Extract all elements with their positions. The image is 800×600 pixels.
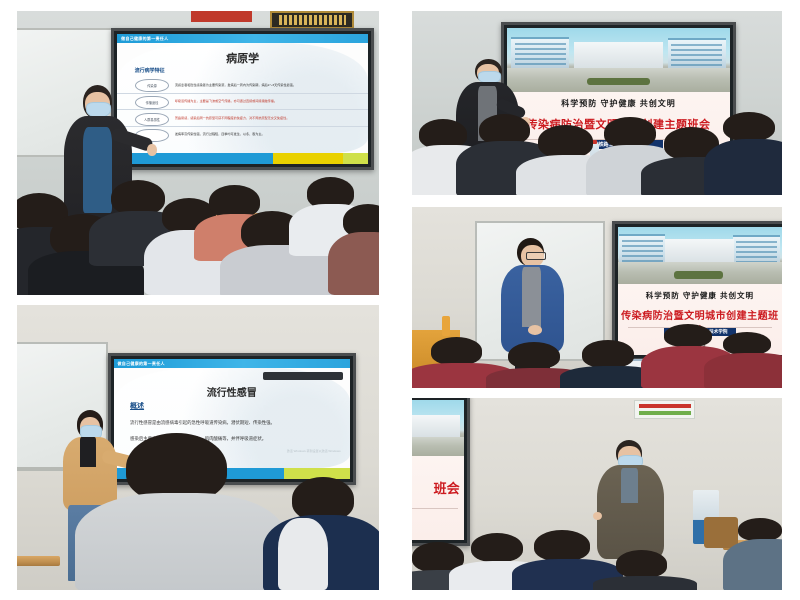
poster-stripe [639, 411, 691, 415]
photo-top-left[interactable]: 做自己健康的第一责任人 病原学 流行病学特征 传染源 流感患者和隐性感染者为主要… [17, 11, 379, 295]
photo-collage: 做自己健康的第一责任人 病原学 流行病学特征 传染源 流感患者和隐性感染者为主要… [0, 0, 800, 600]
audience-row [412, 316, 782, 388]
slide-title: 病原学 [117, 50, 368, 66]
eyeglasses [526, 252, 546, 260]
slide-header-text: 做自己健康的第一责任人 [117, 36, 168, 42]
row-text-2: 普遍易感，感染后同一抗原型可获不同程度的免疫力，对不同抗原型无交叉免疫性。 [175, 115, 361, 120]
slide-header-bar: 做自己健康的第一责任人 [114, 359, 351, 368]
wall-poster [634, 400, 695, 419]
slide-header-bar: 做自己健康的第一责任人 [117, 34, 368, 43]
slide-bullet: 流行病学特征 [135, 67, 165, 74]
campus-photo [412, 400, 464, 456]
campus-photo [507, 28, 730, 92]
photo-bottom-left[interactable]: 做自己健康的第一责任人 流行性感冒 概述 流行性感冒是由流感病毒引起的急性呼吸道… [17, 305, 379, 590]
slide-line1: 科学预防 守护健康 共创文明 [618, 290, 782, 301]
slide-body: 病原学 流行病学特征 传染源 流感患者和隐性感染者为主要传染源，发病后一周内为传… [117, 43, 368, 153]
row-text-3: 发病率高传染性强，流行过程短，四季均可发生，以冬、春为主。 [175, 131, 361, 136]
campus-gate [412, 415, 460, 440]
audience-row [412, 513, 782, 590]
audience-row [412, 96, 782, 195]
slide-title: 流行性感冒 [114, 384, 351, 399]
slide-visible-text: 班会 [434, 478, 460, 497]
audience-row [17, 164, 379, 295]
gold-plaque [270, 11, 354, 29]
campus-photo [618, 227, 782, 283]
photo-top-right[interactable]: 科学预防 守护健康 共创文明 传染病防治暨文明城市创建主题班会 陕西铁路工程职业… [412, 11, 782, 195]
row-text-1: 呼吸道传播为主，主要是飞沫或空气传播，亦可通过直接或间接接触传播。 [175, 98, 361, 103]
pill-label: 传染源 [147, 83, 157, 88]
slide-header-text: 做自己健康的第一责任人 [114, 361, 165, 367]
row-text-0: 流感患者和隐性感染者为主要传染源，发病后一周内为传染期，病后2～3天传染性最强。 [175, 82, 361, 87]
slide-point-0: 流行性感冒是由流感病毒引起的急性呼吸道传染病，潜伏期短、传染性强。 [130, 420, 341, 426]
audience-row [17, 433, 379, 590]
pill-label: 传播途径 [146, 100, 159, 105]
slide-toolbar-dark[interactable] [263, 372, 343, 380]
pill-label: 人群易感性 [144, 117, 160, 122]
poster-stripe [639, 404, 691, 408]
red-banner [191, 11, 253, 22]
photo-mid-right[interactable]: 科学预防 守护健康 共创文明 传染病防治暨文明城市创建主题班会 陕西铁路工程职业… [412, 207, 782, 388]
photo-bottom-right[interactable]: 班会 [412, 398, 782, 590]
slide-bullet: 概述 [130, 401, 144, 411]
